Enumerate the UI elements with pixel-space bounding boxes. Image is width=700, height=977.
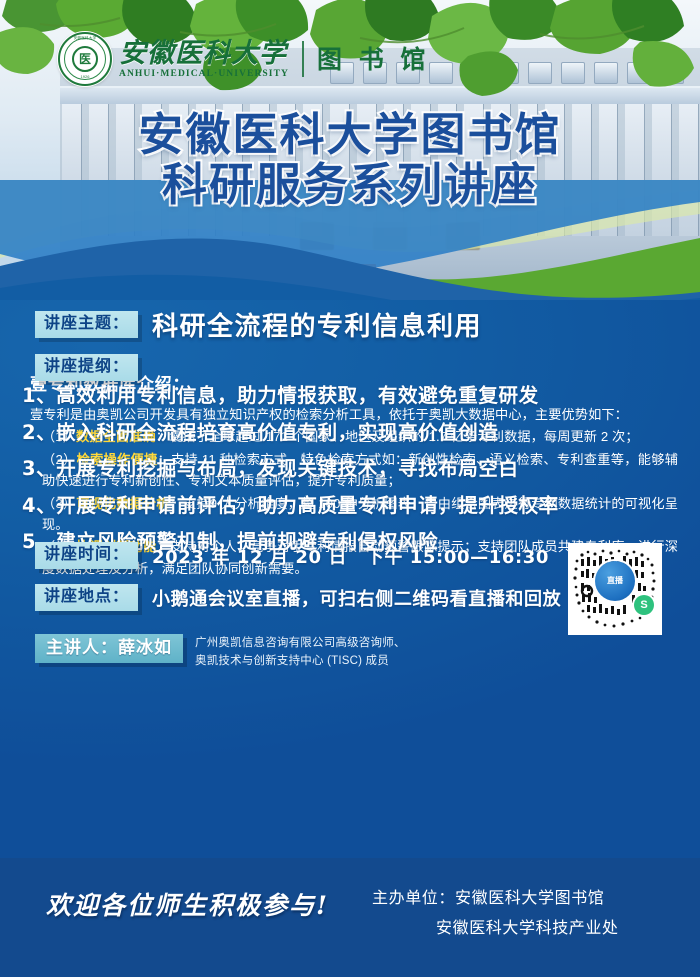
outline-item: 4、开展专利申请前评估，助力高质量专利申请，提升授权率 <box>22 496 682 516</box>
speaker-affiliation: 广州奥凯信息咨询有限公司高级咨询师、 奥凯技术与创新支持中心 (TISC) 成员 <box>195 634 406 671</box>
qr-center-label: 直播 <box>607 575 623 586</box>
logo-divider <box>302 41 304 77</box>
organizer-line-1: 主办单位：安徽医科大学图书馆 <box>372 884 619 914</box>
organizers: 主办单位：安徽医科大学图书馆 安徽医科大学科技产业处 <box>372 884 619 945</box>
speaker-affiliation-line-2: 奥凯技术与创新支持中心 (TISC) 成员 <box>195 655 389 667</box>
time-row: 讲座时间： 2023 年 12 月 20 日 下午 15:00—16:30 <box>35 542 549 569</box>
emblem-center-character: 医 <box>72 46 98 72</box>
building-roofline <box>60 86 700 104</box>
organizer-line-2: 安徽医科大学科技产业处 <box>372 914 619 944</box>
speaker-label-badge: 主讲人：薛冰如 <box>35 634 183 663</box>
emblem-year: 1926 <box>60 74 110 79</box>
topic-row: 讲座主题： 科研全流程的专利信息利用 <box>35 306 482 343</box>
outline-item: 3、开展专利挖掘与布局，发现关键技术，寻找布局空白 <box>22 459 682 479</box>
logo-text-stack: 安徽医科大学 ANHUI·MEDICAL·UNIVERSITY <box>119 40 289 79</box>
time-label-badge: 讲座时间： <box>35 542 138 569</box>
poster-title: 安徽医科大学图书馆 科研服务系列讲座 <box>0 110 700 211</box>
poster-root: 衷心拥护 "两个确立" <box>0 0 700 977</box>
topic-label-badge: 讲座主题： <box>35 311 138 338</box>
poster-footer: 欢迎各位师生积极参与! 主办单位：安徽医科大学图书馆 安徽医科大学科技产业处 <box>0 858 700 977</box>
title-line-1: 安徽医科大学图书馆 <box>0 110 700 160</box>
time-value: 2023 年 12 月 20 日 下午 15:00—16:30 <box>152 543 549 569</box>
emblem-ring-text: 安徽医科大学 <box>60 36 110 41</box>
qr-inner: 直播 S <box>572 547 658 631</box>
building-sign-characters <box>300 222 480 250</box>
place-row: 讲座地点： 小鹅通会议室直播，可扫右侧二维码看直播和回放 <box>35 584 561 611</box>
topic-value: 科研全流程的专利信息利用 <box>152 306 482 343</box>
place-label-badge: 讲座地点： <box>35 584 138 611</box>
red-banner: 衷心拥护 "两个确立" <box>256 264 376 277</box>
outline-item: 2、嵌入科研全流程培育高价值专利，实现高价值创造 <box>22 423 682 443</box>
outline-item: 1、高效利用专利信息，助力情报获取，有效避免重复研发 <box>22 386 682 406</box>
place-value: 小鹅通会议室直播，可扫右侧二维码看直播和回放 <box>152 585 561 611</box>
qr-center-logo-icon: 直播 <box>595 561 635 601</box>
university-name-en: ANHUI·MEDICAL·UNIVERSITY <box>119 69 289 79</box>
qr-miniprogram-badge-icon: S <box>634 595 654 615</box>
library-name-cn: 图 书 馆 <box>317 47 429 72</box>
title-line-2: 科研服务系列讲座 <box>0 160 700 210</box>
university-emblem-icon: 安徽医科大学 医 1926 <box>58 32 112 86</box>
outline-label-wrap: 讲座提纲： <box>35 354 138 381</box>
university-logo: 安徽医科大学 医 1926 安徽医科大学 ANHUI·MEDICAL·UNIVE… <box>58 32 429 86</box>
welcome-message: 欢迎各位师生积极参与! <box>46 886 329 922</box>
qr-code[interactable]: 直播 S <box>568 543 662 635</box>
speaker-row: 主讲人：薛冰如 广州奥凯信息咨询有限公司高级咨询师、 奥凯技术与创新支持中心 (… <box>35 634 406 671</box>
university-name-cn: 安徽医科大学 <box>119 40 289 67</box>
outline-label-badge: 讲座提纲： <box>35 354 138 381</box>
speaker-affiliation-line-1: 广州奥凯信息咨询有限公司高级咨询师、 <box>195 637 406 649</box>
